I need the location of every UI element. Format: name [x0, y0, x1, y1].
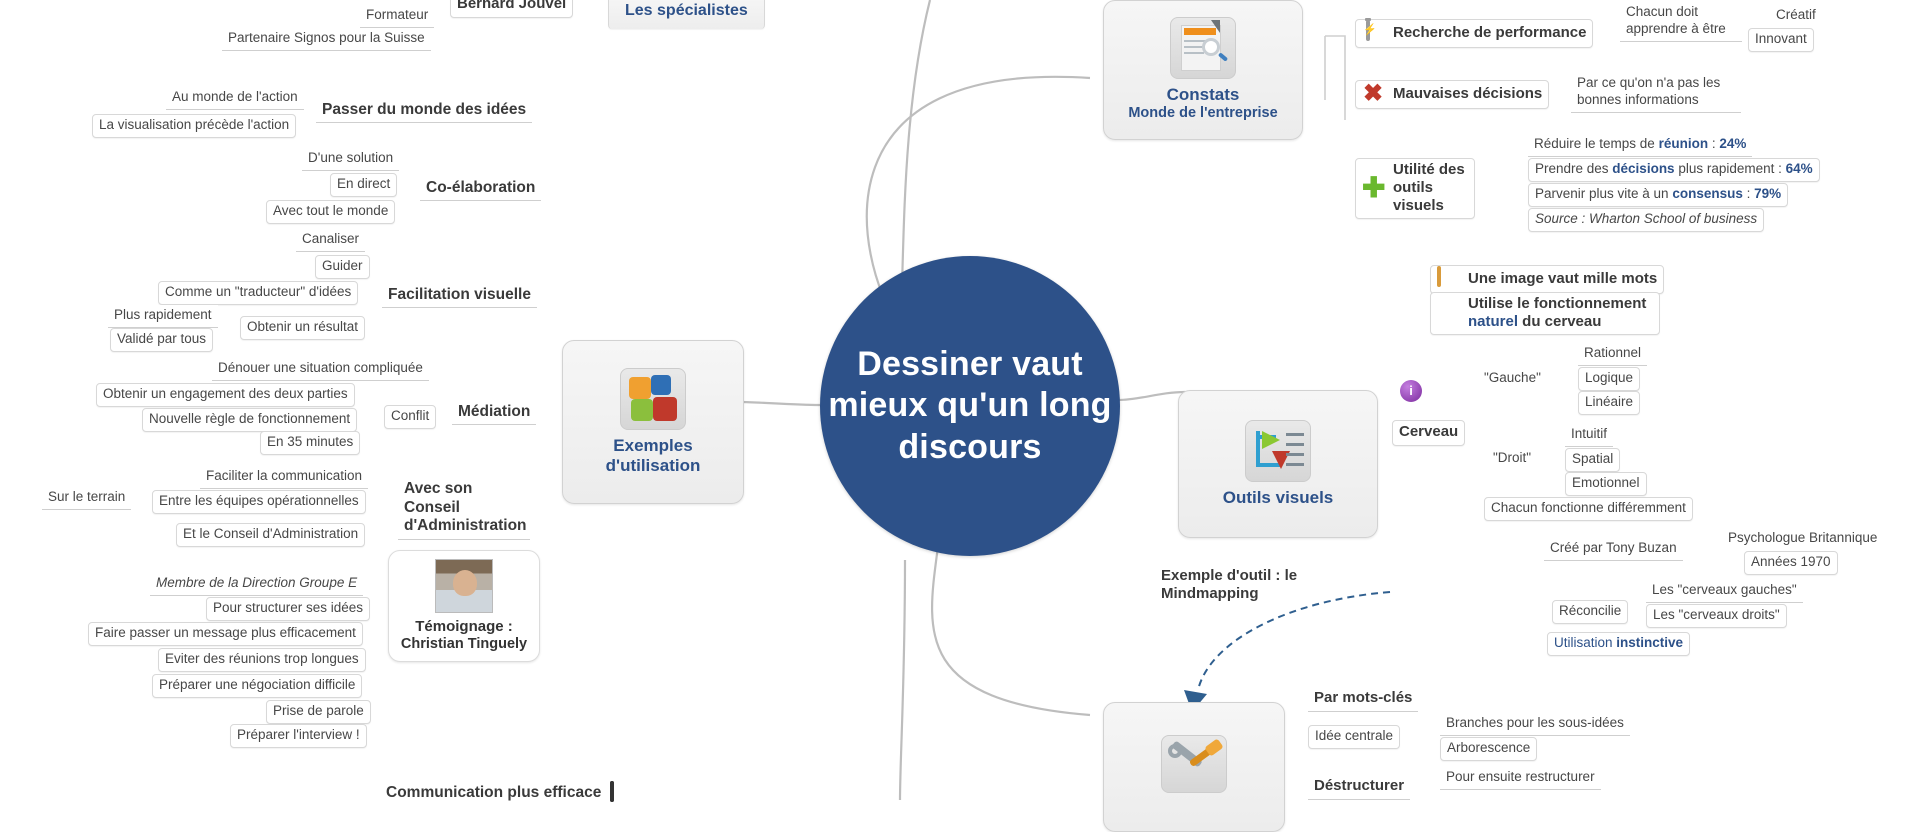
- topic-label: Utilise le fonctionnement naturel du cer…: [1468, 295, 1646, 330]
- topic-chacun-doit-apprendre[interactable]: Chacun doit apprendre à être: [1620, 2, 1742, 42]
- topic-label: Linéaire: [1585, 394, 1633, 409]
- topic-label: "Droit": [1493, 450, 1531, 465]
- topic-label: Obtenir un résultat: [247, 319, 358, 334]
- battery-icon: [1362, 22, 1384, 44]
- topic-guider[interactable]: Guider: [315, 255, 370, 279]
- topic-gauche[interactable]: "Gauche": [1478, 368, 1547, 390]
- topic-valide-par-tous[interactable]: Validé par tous: [110, 328, 213, 352]
- topic-label: Pour ensuite restructurer: [1446, 769, 1595, 784]
- topic-label: Prendre des décisions plus rapidement : …: [1535, 161, 1813, 176]
- topic-label: Arborescence: [1447, 740, 1530, 755]
- topic-preparer-interview[interactable]: Préparer l'interview !: [230, 724, 367, 748]
- image-node-outils-visuels[interactable]: Outils visuels: [1178, 390, 1378, 538]
- topic-preparer-negociation[interactable]: Préparer une négociation difficile: [152, 674, 362, 698]
- topic-les-specialistes[interactable]: Les spécialistes: [608, 0, 765, 29]
- topic-label: Au monde de l'action: [172, 89, 298, 104]
- topic-label: Eviter des réunions trop longues: [165, 651, 359, 666]
- topic-conflit[interactable]: Conflit: [384, 405, 436, 429]
- topic-label: Utilisation instinctive: [1554, 635, 1683, 650]
- topic-emotionnel[interactable]: Emotionnel: [1565, 472, 1647, 496]
- topic-label: Et le Conseil d'Administration: [183, 526, 358, 541]
- image-node-exemples-utilisation[interactable]: Exemples d'utilisation: [562, 340, 744, 504]
- topic-label: Préparer une négociation difficile: [159, 677, 355, 692]
- topic-pour-ensuite-restructurer[interactable]: Pour ensuite restructurer: [1440, 767, 1601, 790]
- topic-label: Réconcilie: [1559, 603, 1621, 618]
- topic-intuitif[interactable]: Intuitif: [1565, 424, 1613, 447]
- topic-label: Membre de la Direction Groupe E: [156, 575, 357, 590]
- topic-reduire-temps-reunion[interactable]: Réduire le temps de réunion : 24%: [1528, 134, 1752, 157]
- topic-par-mots-cles[interactable]: Par mots-clés: [1308, 687, 1418, 712]
- topic-label: Utilité des outils visuels: [1393, 161, 1468, 215]
- topic-label: Intuitif: [1571, 426, 1607, 441]
- topic-label: Comme un "traducteur" d'idées: [165, 284, 351, 299]
- topic-cree-par-tony-buzan[interactable]: Créé par Tony Buzan: [1544, 538, 1683, 561]
- topic-en-direct[interactable]: En direct: [330, 173, 397, 197]
- topic-faciliter-communication[interactable]: Faciliter la communication: [200, 466, 368, 489]
- topic-label: Innovant: [1755, 31, 1807, 46]
- phone-icon: [610, 782, 632, 804]
- topic-label: Créé par Tony Buzan: [1550, 540, 1677, 555]
- topic-source-wharton[interactable]: Source : Wharton School of business: [1528, 208, 1764, 232]
- topic-destructurer[interactable]: Déstructurer: [1308, 775, 1410, 800]
- topic-label: Chacun doit apprendre à être: [1626, 4, 1726, 36]
- topic-label: Faire passer un message plus efficacemen…: [95, 625, 356, 640]
- topic-label: Idée centrale: [1315, 728, 1393, 743]
- topic-cerveaux-droits[interactable]: Les "cerveaux droits": [1646, 604, 1787, 628]
- topic-label: Dénouer une situation compliquée: [218, 360, 423, 375]
- topic-label: Préparer l'interview !: [237, 727, 360, 742]
- topic-innovant[interactable]: Innovant: [1748, 28, 1814, 52]
- topic-label: Passer du monde des idées: [322, 101, 526, 118]
- topic-label: Chacun fonctionne différemment: [1491, 500, 1686, 515]
- topic-passer-monde-idees[interactable]: Passer du monde des idées: [316, 98, 532, 123]
- topic-label: D'une solution: [308, 150, 393, 165]
- topic-utilisation-instinctive[interactable]: Utilisation instinctive: [1547, 632, 1690, 656]
- document-magnifier-icon: [1170, 17, 1236, 79]
- topic-label: Obtenir un engagement des deux parties: [103, 386, 348, 401]
- topic-label: Créatif: [1776, 7, 1816, 22]
- image-node-temoignage[interactable]: Témoignage : Christian Tinguely: [388, 550, 540, 662]
- topic-label: Les spécialistes: [625, 2, 748, 19]
- image-node-caption: Outils visuels: [1223, 488, 1334, 508]
- topic-label: Source : Wharton School of business: [1535, 211, 1757, 226]
- topic-label: Pour structurer ses idées: [213, 600, 363, 615]
- topic-nouvelle-regle[interactable]: Nouvelle règle de fonctionnement: [142, 408, 357, 432]
- topic-label: Formateur: [366, 7, 428, 22]
- topic-fonctionnement-naturel-cerveau[interactable]: Utilise le fonctionnement naturel du cer…: [1430, 292, 1660, 335]
- topic-label: Les "cerveaux droits": [1653, 607, 1780, 622]
- topic-label: Validé par tous: [117, 331, 206, 346]
- topic-plus-rapidement[interactable]: Plus rapidement: [108, 305, 218, 328]
- topic-label: Cerveau: [1399, 423, 1458, 440]
- topic-avec-tout-le-monde[interactable]: Avec tout le monde: [266, 200, 395, 224]
- brain-icon: i: [1400, 380, 1422, 402]
- topic-label: Nouvelle règle de fonctionnement: [149, 411, 350, 426]
- image-node-outils-pratique[interactable]: [1103, 702, 1285, 832]
- topic-decisions-plus-rapidement[interactable]: Prendre des décisions plus rapidement : …: [1528, 158, 1820, 182]
- topic-faire-passer-message[interactable]: Faire passer un message plus efficacemen…: [88, 622, 363, 646]
- topic-eviter-reunions-longues[interactable]: Eviter des réunions trop longues: [158, 648, 366, 672]
- topic-label: Conflit: [391, 408, 429, 423]
- topic-et-conseil-administration[interactable]: Et le Conseil d'Administration: [176, 523, 365, 547]
- topic-denouer-situation[interactable]: Dénouer une situation compliquée: [212, 358, 429, 381]
- topic-creatif[interactable]: Créatif: [1770, 5, 1822, 27]
- topic-label: Guider: [322, 258, 363, 273]
- topic-label: Facilitation visuelle: [388, 286, 531, 303]
- topic-droit[interactable]: "Droit": [1487, 448, 1537, 470]
- topic-spatial[interactable]: Spatial: [1565, 448, 1620, 472]
- central-topic[interactable]: Dessiner vaut mieux qu'un long discours: [820, 256, 1120, 556]
- picture-frame-icon: [1437, 268, 1459, 290]
- topic-label: Rationnel: [1584, 345, 1641, 360]
- topic-logique[interactable]: Logique: [1578, 367, 1640, 391]
- topic-label: Médiation: [458, 403, 530, 420]
- mindmap-canvas: Dessiner vaut mieux qu'un long discours …: [0, 0, 1920, 800]
- topic-cerveaux-gauches[interactable]: Les "cerveaux gauches": [1646, 580, 1803, 603]
- topic-label: Canaliser: [302, 231, 359, 246]
- topic-label: Parvenir plus vite à un consensus : 79%: [1535, 186, 1781, 201]
- wrench-hammer-icon: [1161, 735, 1227, 793]
- topic-prise-de-parole[interactable]: Prise de parole: [266, 700, 371, 724]
- topic-label: Réduire le temps de réunion : 24%: [1534, 136, 1746, 151]
- topic-label: En 35 minutes: [267, 434, 353, 449]
- topic-label: Exemple d'outil : le Mindmapping: [1161, 567, 1297, 602]
- topic-psychologue-britannique[interactable]: Psychologue Britannique: [1722, 528, 1883, 550]
- topic-utilite-outils-visuels[interactable]: ✚ Utilité des outils visuels: [1355, 158, 1475, 219]
- topic-canaliser[interactable]: Canaliser: [296, 229, 365, 252]
- topic-label: Années 1970: [1751, 554, 1831, 569]
- topic-label: Les "cerveaux gauches": [1652, 582, 1797, 597]
- puzzle-pieces-icon: [620, 368, 686, 430]
- topic-label: Psychologue Britannique: [1728, 530, 1877, 545]
- topic-membre-direction-groupe-e[interactable]: Membre de la Direction Groupe E: [150, 573, 363, 596]
- topic-communication-plus-efficace[interactable]: Communication plus efficace: [380, 780, 638, 807]
- topic-visualisation-precede[interactable]: La visualisation précède l'action: [92, 114, 296, 138]
- topic-label: Emotionnel: [1572, 475, 1640, 490]
- topic-lineaire[interactable]: Linéaire: [1578, 391, 1640, 415]
- topic-label: Partenaire Signos pour la Suisse: [228, 30, 425, 45]
- topic-label: Une image vaut mille mots: [1468, 270, 1657, 289]
- red-cross-icon: ✖: [1362, 83, 1384, 105]
- topic-label: La visualisation précède l'action: [99, 117, 289, 132]
- topic-label: Prise de parole: [273, 703, 364, 718]
- topic-cerveau[interactable]: Cerveau: [1392, 420, 1465, 446]
- topic-formateur[interactable]: Formateur: [360, 5, 434, 28]
- topic-branches-sous-idees[interactable]: Branches pour les sous-idées: [1440, 713, 1630, 736]
- topic-avec-conseil-administration[interactable]: Avec son Conseil d'Administration: [398, 478, 530, 540]
- topic-label: Bernard Jouvel: [457, 0, 566, 12]
- topic-mauvaises-decisions[interactable]: ✖ Mauvaises décisions: [1355, 80, 1549, 109]
- image-node-caption: Exemples d'utilisation: [573, 436, 733, 476]
- topic-label: Entre les équipes opérationnelles: [159, 493, 359, 508]
- topic-label: Avec son Conseil d'Administration: [404, 480, 527, 534]
- brain-icon-wrap: i: [1400, 380, 1422, 402]
- topic-label: Déstructurer: [1314, 777, 1404, 794]
- topic-label: Spatial: [1572, 451, 1613, 466]
- topic-engagement-deux-parties[interactable]: Obtenir un engagement des deux parties: [96, 383, 355, 407]
- topic-partenaire-signos[interactable]: Partenaire Signos pour la Suisse: [222, 28, 431, 51]
- topic-label: Par ce qu'on n'a pas les bonnes informat…: [1577, 75, 1720, 107]
- topic-label: Sur le terrain: [48, 489, 125, 504]
- topic-entre-equipes-operationnelles[interactable]: Entre les équipes opérationnelles: [152, 490, 366, 514]
- topic-en-35-minutes[interactable]: En 35 minutes: [260, 431, 360, 455]
- topic-obtenir-resultat[interactable]: Obtenir un résultat: [240, 316, 365, 340]
- topic-label: Avec tout le monde: [273, 203, 388, 218]
- green-plus-icon: ✚: [1362, 177, 1384, 199]
- topic-label: Plus rapidement: [114, 307, 212, 322]
- portrait-photo: [435, 559, 493, 613]
- topic-label: Logique: [1585, 370, 1633, 385]
- topic-traducteur-idees[interactable]: Comme un "traducteur" d'idées: [158, 281, 358, 305]
- topic-une-image-vaut-mille-mots[interactable]: Une image vaut mille mots: [1430, 265, 1664, 294]
- topic-co-elaboration[interactable]: Co-élaboration: [420, 176, 541, 201]
- central-topic-label: Dessiner vaut mieux qu'un long discours: [820, 344, 1120, 468]
- topic-reconcilie[interactable]: Réconcilie: [1552, 600, 1628, 624]
- leaf-icon: [1437, 302, 1459, 324]
- image-node-caption: Témoignage : Christian Tinguely: [401, 618, 527, 653]
- topic-label: Par mots-clés: [1314, 689, 1412, 706]
- topic-au-monde-action[interactable]: Au monde de l'action: [166, 87, 304, 110]
- topic-annees-1970[interactable]: Années 1970: [1744, 551, 1838, 575]
- topic-bernard-jouvel[interactable]: Bernard Jouvel: [450, 0, 573, 18]
- topic-label: Co-élaboration: [426, 179, 535, 196]
- topic-pour-structurer-idees[interactable]: Pour structurer ses idées: [206, 597, 370, 621]
- topic-chacun-fonctionne-differemment[interactable]: Chacun fonctionne différemment: [1484, 497, 1693, 521]
- topic-exemple-outil-mindmapping[interactable]: Exemple d'outil : le Mindmapping: [1155, 565, 1305, 606]
- topic-recherche-performance[interactable]: Recherche de performance: [1355, 19, 1593, 48]
- topic-consensus[interactable]: Parvenir plus vite à un consensus : 79%: [1528, 183, 1788, 207]
- topic-label: Mauvaises décisions: [1393, 85, 1542, 104]
- topic-sur-le-terrain[interactable]: Sur le terrain: [42, 487, 131, 510]
- topic-rationnel[interactable]: Rationnel: [1578, 343, 1647, 366]
- image-node-constats[interactable]: Constats Monde de l'entreprise: [1103, 0, 1303, 140]
- topic-label: "Gauche": [1484, 370, 1541, 385]
- process-arrows-icon: [1245, 420, 1311, 482]
- topic-label: Recherche de performance: [1393, 24, 1586, 43]
- topic-label: Faciliter la communication: [206, 468, 362, 483]
- topic-facilitation-visuelle[interactable]: Facilitation visuelle: [382, 283, 537, 308]
- topic-mediation[interactable]: Médiation: [452, 400, 536, 425]
- image-node-caption: Constats Monde de l'entreprise: [1128, 85, 1277, 122]
- topic-label: Branches pour les sous-idées: [1446, 715, 1624, 730]
- topic-idee-centrale[interactable]: Idée centrale: [1308, 725, 1400, 749]
- topic-pas-bonnes-informations[interactable]: Par ce qu'on n'a pas les bonnes informat…: [1571, 73, 1741, 113]
- topic-dune-solution[interactable]: D'une solution: [302, 148, 399, 171]
- topic-arborescence[interactable]: Arborescence: [1440, 737, 1537, 761]
- topic-label: En direct: [337, 176, 390, 191]
